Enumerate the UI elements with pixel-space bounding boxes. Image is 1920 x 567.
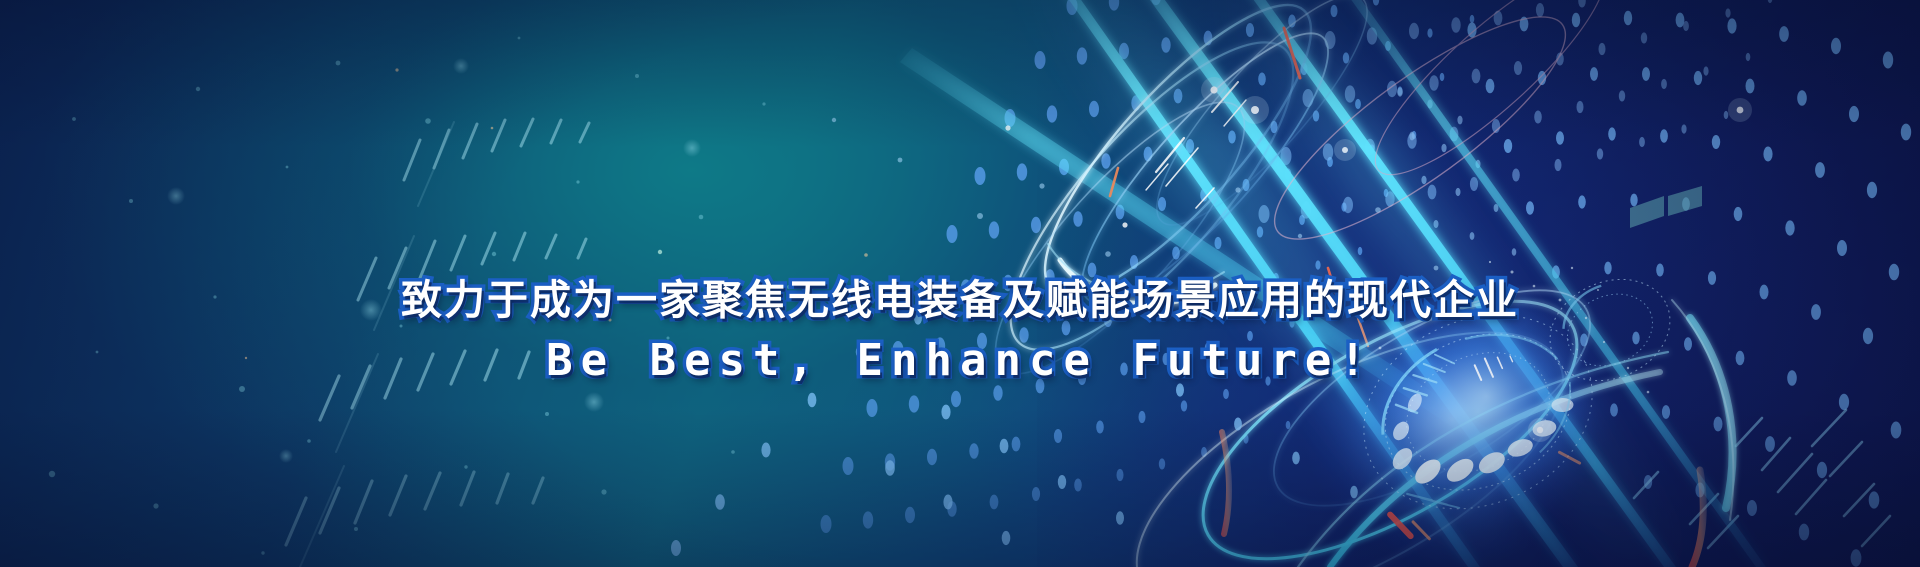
hero-banner: 致力于成为一家聚焦无线电装备及赋能场景应用的现代企业 Be Best, Enha… [0,0,1920,567]
headline-english: Be Best, Enhance Future! [0,338,1920,384]
headline-chinese: 致力于成为一家聚焦无线电装备及赋能场景应用的现代企业 [0,278,1920,324]
headline-block: 致力于成为一家聚焦无线电装备及赋能场景应用的现代企业 Be Best, Enha… [0,278,1920,384]
